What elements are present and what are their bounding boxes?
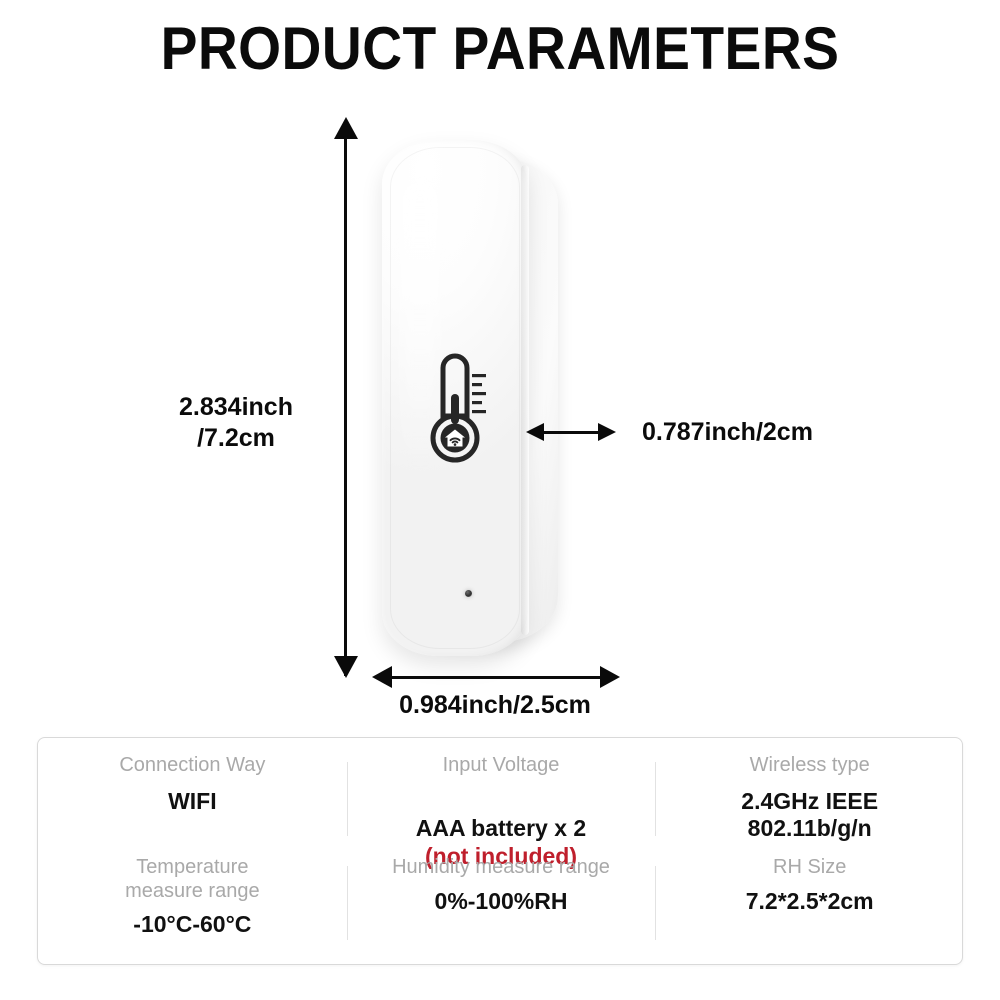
spec-table: Connection Way WIFI Input Voltage AAA ba…	[37, 737, 963, 965]
arrow-left-small-icon	[526, 423, 544, 441]
width-dimension-line	[388, 676, 602, 679]
spec-cell-rh-size: RH Size 7.2*2.5*2cm	[655, 856, 964, 956]
spec-value-text: AAA battery x 2	[416, 815, 586, 841]
spec-label: Input Voltage	[353, 754, 650, 778]
spec-value: WIFI	[44, 788, 341, 816]
spec-label: RH Size	[661, 856, 958, 880]
spec-label: Wireless type	[661, 754, 958, 778]
arrow-up-icon	[334, 117, 358, 139]
spec-cell-wireless-type: Wireless type 2.4GHz IEEE 802.11b/g/n	[655, 752, 964, 852]
arrow-down-icon	[334, 656, 358, 678]
device-seam	[521, 165, 529, 635]
arrow-right-small-icon	[598, 423, 616, 441]
product-device-image	[382, 140, 557, 660]
product-illustration: 2.834inch /7.2cm 0.984inch/2.5cm 0.787in…	[0, 110, 1000, 730]
spec-cell-temperature-range: Temperature measure range -10°C-60°C	[38, 856, 347, 956]
spec-cell-humidity-range: Humidity measure range 0%-100%RH	[347, 856, 656, 956]
spec-cell-input-voltage: Input Voltage AAA battery x 2 (not inclu…	[347, 752, 656, 852]
spec-value: 7.2*2.5*2cm	[661, 888, 958, 916]
spec-value: -10°C-60°C	[44, 911, 341, 939]
spec-value: 0%-100%RH	[353, 888, 650, 916]
spec-label: Connection Way	[44, 754, 341, 778]
spec-label: Temperature measure range	[44, 856, 341, 903]
spec-label: Humidity measure range	[353, 856, 650, 880]
width-dimension-label: 0.984inch/2.5cm	[330, 690, 660, 721]
height-dimension-label: 2.834inch /7.2cm	[150, 392, 322, 453]
depth-dimension-line	[540, 431, 602, 434]
arrow-left-icon	[372, 666, 392, 688]
spec-cell-connection-way: Connection Way WIFI	[38, 752, 347, 852]
thermometer-house-wifi-icon	[418, 348, 494, 468]
arrow-right-icon	[600, 666, 620, 688]
table-row: Temperature measure range -10°C-60°C Hum…	[38, 856, 964, 956]
depth-dimension-label: 0.787inch/2cm	[642, 417, 813, 448]
height-dimension-line	[344, 128, 347, 676]
table-row: Connection Way WIFI Input Voltage AAA ba…	[38, 752, 964, 852]
page-title: PRODUCT PARAMETERS	[40, 14, 960, 83]
status-led	[465, 590, 472, 597]
spec-value: 2.4GHz IEEE 802.11b/g/n	[661, 788, 958, 843]
